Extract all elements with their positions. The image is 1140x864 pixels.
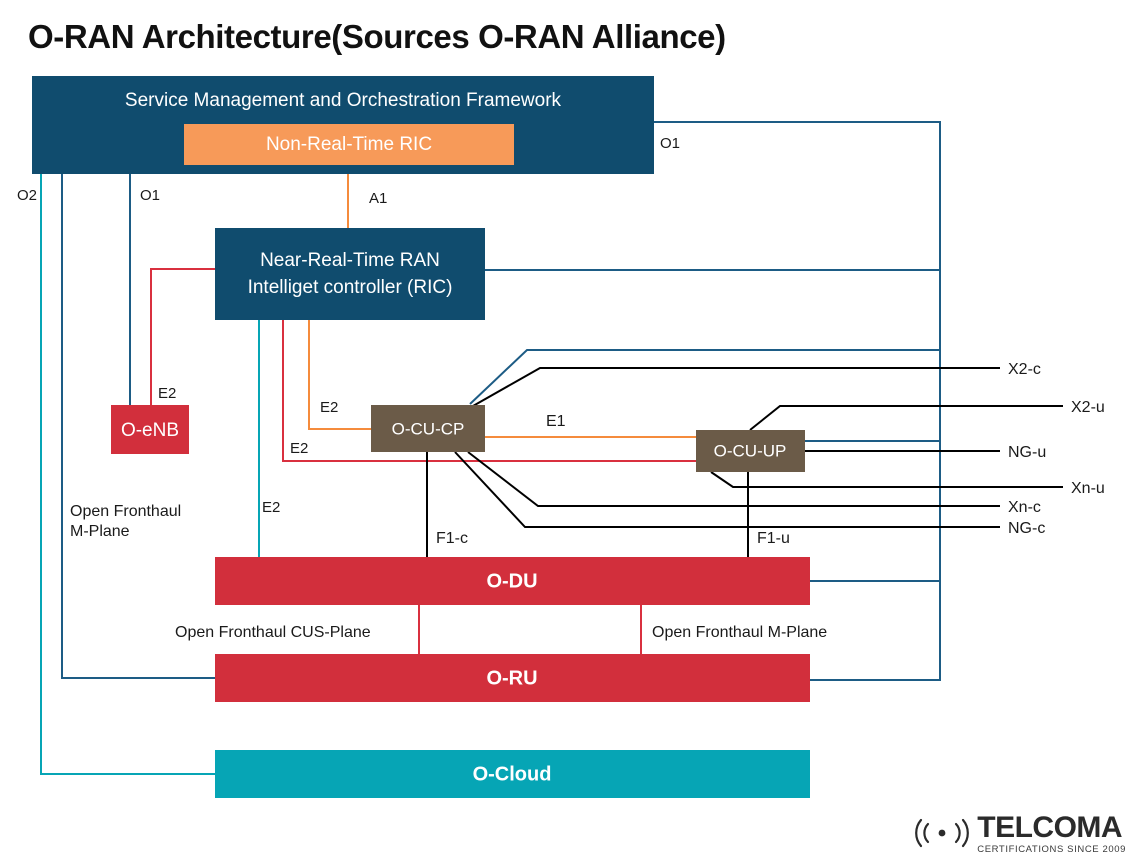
plane-label-cus-plane: Open Fronthaul CUS-Plane (175, 624, 371, 641)
node-o-du-label: O-DU (486, 570, 537, 592)
edge-e2-o-cu-cp (309, 320, 371, 429)
edge-label-o2-left: O2 (17, 187, 37, 204)
node-non-rt-ric[interactable]: Non-Real-Time RIC (184, 124, 514, 165)
signal-dot-icon (939, 830, 946, 837)
node-o-enb[interactable]: O-eNB (111, 405, 189, 454)
logo-tagline: CERTIFICATIONS SINCE 2009 (977, 845, 1126, 855)
interface-label-ng-u: NG-u (1008, 444, 1046, 461)
node-o-cloud[interactable]: O-Cloud (215, 750, 810, 798)
interface-label-ng-c: NG-c (1008, 520, 1045, 537)
node-o-cu-up-label: O-CU-UP (714, 441, 787, 460)
telcoma-logo: TELCOMA CERTIFICATIONS SINCE 2009 (913, 813, 1126, 855)
node-o-ru-label: O-RU (486, 667, 537, 689)
node-o-cloud-label: O-Cloud (473, 763, 552, 785)
edge-x2-c (473, 368, 1000, 406)
node-o-ru[interactable]: O-RU (215, 654, 810, 702)
node-o-enb-label: O-eNB (121, 420, 179, 441)
edge-label-e2-enb: E2 (158, 385, 176, 402)
node-o-cu-cp-label: O-CU-CP (392, 419, 465, 438)
node-near-rt-ric-label-line1: Near-Real-Time RAN (260, 250, 440, 271)
plane-label-m-plane-left-line1: Open Fronthaul (70, 503, 181, 520)
edge-o1-to-o-cu-cp (470, 350, 940, 404)
edge-label-a1: A1 (369, 190, 387, 207)
page-title: O-RAN Architecture(Sources O-RAN Allianc… (28, 18, 726, 55)
edge-xn-u (711, 472, 1063, 487)
diagram-canvas: O-RAN Architecture(Sources O-RAN Allianc… (0, 0, 1140, 864)
edge-label-f1-c: F1-c (436, 530, 468, 547)
edge-label-e2-odu: E2 (262, 499, 280, 516)
oran-architecture-diagram: O-RAN Architecture(Sources O-RAN Allianc… (0, 0, 1140, 864)
plane-label-m-plane: Open Fronthaul M-Plane (652, 624, 827, 641)
edge-label-e2-cucp-orange: E2 (320, 399, 338, 416)
node-near-rt-ric-rect[interactable] (215, 228, 485, 320)
plane-label-m-plane-left-line2: M-Plane (70, 523, 130, 540)
node-smo-label: Service Management and Orchestration Fra… (125, 90, 562, 111)
edge-e2-o-cu-up (283, 320, 696, 461)
interface-label-x2-u: X2-u (1071, 399, 1105, 416)
node-o-du[interactable]: O-DU (215, 557, 810, 605)
node-o-cu-up[interactable]: O-CU-UP (696, 430, 805, 472)
edge-label-e1: E1 (546, 413, 566, 430)
node-near-rt-ric-label-line2: Intelliget controller (RIC) (248, 277, 453, 298)
edge-label-o1-top-right: O1 (660, 135, 680, 152)
edge-label-f1-u: F1-u (757, 530, 790, 547)
logo-brand: TELCOMA (977, 813, 1126, 843)
edge-label-e2-cucp-red: E2 (290, 440, 308, 457)
node-near-rt-ric[interactable]: Near-Real-Time RAN Intelliget controller… (215, 228, 485, 320)
edge-x2-u (750, 406, 1063, 430)
logo-wordmark: TELCOMA CERTIFICATIONS SINCE 2009 (977, 813, 1126, 855)
interface-label-xn-u: Xn-u (1071, 480, 1105, 497)
interface-label-xn-c: Xn-c (1008, 499, 1041, 516)
edge-o2-to-o-cloud (41, 174, 215, 774)
node-non-rt-ric-label: Non-Real-Time RIC (266, 134, 432, 155)
edge-label-o1-left: O1 (140, 187, 160, 204)
broadcast-signal-icon (913, 816, 971, 850)
interface-label-x2-c: X2-c (1008, 361, 1041, 378)
interface-label-layer: X2-c X2-u NG-u Xn-u Xn-c NG-c (1008, 361, 1105, 537)
node-o-cu-cp[interactable]: O-CU-CP (371, 405, 485, 452)
